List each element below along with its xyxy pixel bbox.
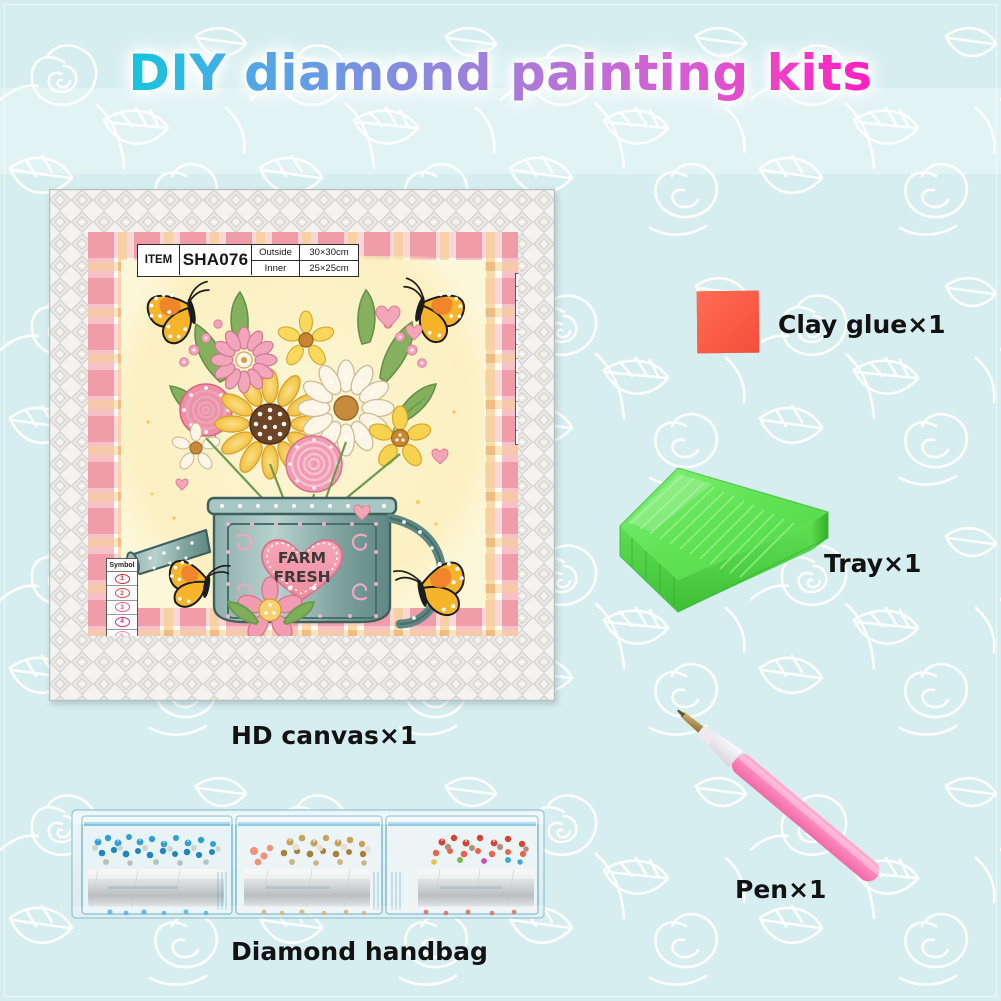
tray-image — [612, 430, 842, 620]
symbol-row-4: 4 — [107, 615, 137, 629]
symbol-row-b: B — [516, 417, 518, 431]
symbol-row-6: 6 — [516, 359, 518, 373]
butterfly-lower-right — [393, 555, 472, 625]
item-label: ITEM — [138, 245, 180, 275]
symbol-legend-left: Symbol 12345678ABC — [106, 558, 138, 636]
symbol-legend-header: Symbol — [107, 559, 137, 572]
hd-canvas-product[interactable]: FARM FRESH — [49, 189, 555, 701]
inner-size-row: Inner 25×25cm — [252, 261, 358, 276]
clay-glue-image — [697, 291, 760, 354]
tray-label: Tray×1 — [824, 549, 921, 578]
symbol-row-8: 8 — [516, 388, 518, 402]
page-title-container: DIY diamond painting kits — [0, 44, 1001, 114]
item-size-block: Outside 30×30cm Inner 25×25cm — [252, 245, 358, 276]
symbol-row-3: 3 — [107, 601, 137, 615]
pen-label: Pen×1 — [735, 875, 826, 904]
symbol-glyph-5: 5 — [115, 631, 130, 636]
farm-text: FARM — [278, 549, 326, 567]
symbol-row-3: 3 — [516, 316, 518, 330]
symbol-row-2: 2 — [107, 586, 137, 600]
inner-value: 25×25cm — [300, 261, 358, 276]
symbol-glyph-1: 1 — [115, 574, 130, 584]
symbol-legend-header: Symbol — [516, 274, 518, 287]
symbol-glyph-3: 3 — [115, 602, 130, 612]
outside-size-row: Outside 30×30cm — [252, 245, 358, 261]
symbol-row-4: 4 — [516, 330, 518, 344]
symbol-glyph-2: 2 — [115, 588, 130, 598]
symbol-row-2: 2 — [516, 301, 518, 315]
outside-value: 30×30cm — [300, 245, 358, 260]
page-title: DIY diamond painting kits — [128, 44, 872, 102]
symbol-legend-right: Symbol 12345678ABC — [515, 273, 518, 445]
symbol-row-c: C — [516, 431, 518, 444]
outside-label: Outside — [252, 245, 300, 260]
hd-canvas-label: HD canvas×1 — [231, 721, 417, 750]
product-infographic: DIY diamond painting kits — [0, 0, 1001, 1001]
fresh-text: FRESH — [273, 568, 330, 586]
butterfly-upper-left — [145, 280, 226, 347]
watering-can-bouquet-illustration: FARM FRESH — [88, 232, 518, 636]
symbol-row-7: 7 — [516, 373, 518, 387]
diamond-handbag-label: Diamond handbag — [231, 937, 488, 966]
item-spec-table: ITEM SHA076 Outside 30×30cm Inner 25×25c… — [137, 244, 359, 277]
blue-diamond-bag — [82, 816, 232, 915]
symbol-row-1: 1 — [107, 572, 137, 586]
symbol-row-5: 5 — [107, 630, 137, 636]
inner-label: Inner — [252, 261, 300, 276]
item-code: SHA076 — [180, 245, 252, 275]
gold-diamond-bag — [236, 816, 382, 915]
symbol-row-1: 1 — [516, 287, 518, 301]
diamond-handbag-image — [68, 806, 548, 922]
symbol-row-a: A — [516, 402, 518, 416]
symbol-glyph-4: 4 — [115, 617, 130, 627]
red-diamond-bag — [386, 816, 538, 915]
canvas-artwork: FARM FRESH — [88, 232, 518, 636]
symbol-row-5: 5 — [516, 345, 518, 359]
clay-glue-label: Clay glue×1 — [778, 310, 946, 339]
